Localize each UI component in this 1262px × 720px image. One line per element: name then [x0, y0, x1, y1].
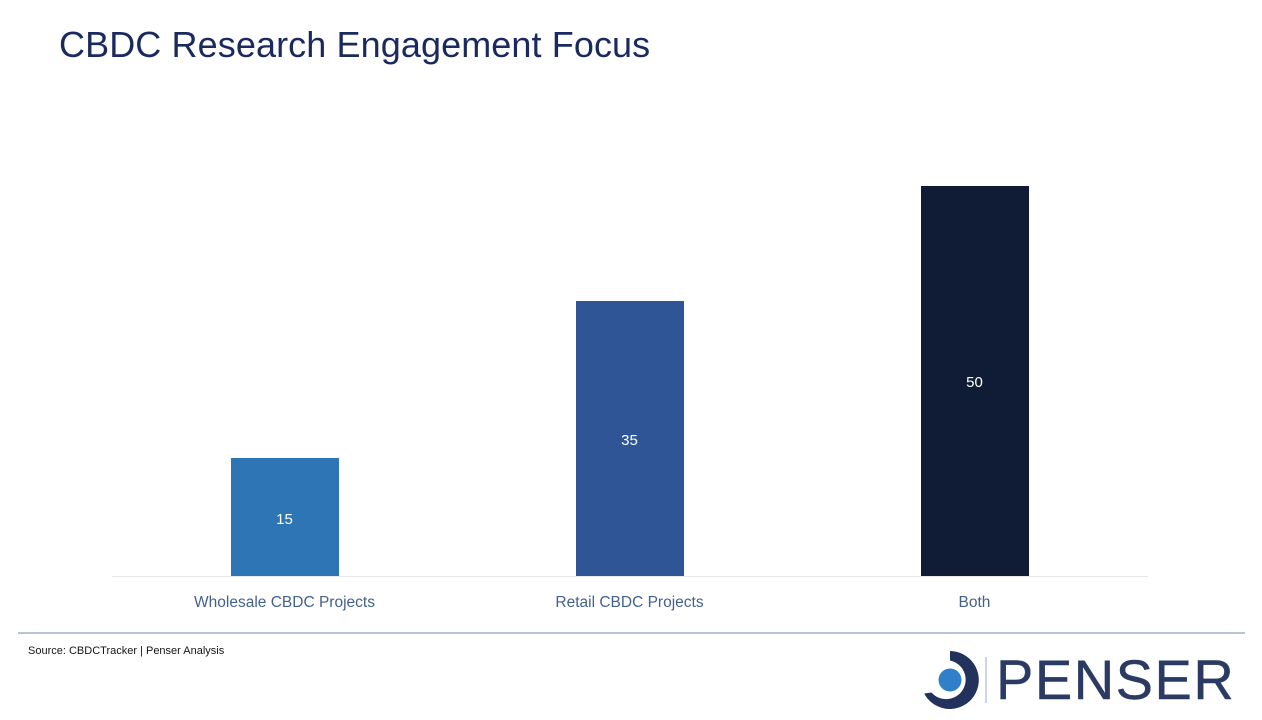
- bar-wholesale[interactable]: 15: [231, 458, 339, 576]
- bar-value-wholesale: 15: [231, 512, 339, 527]
- bar-chart: 15 35 50 Wholesale CBDC Projects Retail …: [0, 0, 1262, 626]
- penser-logo: PENSER: [918, 645, 1235, 715]
- bar-both[interactable]: 50: [921, 186, 1029, 576]
- source-note: Source: CBDCTracker | Penser Analysis: [28, 645, 224, 657]
- bar-value-retail: 35: [576, 433, 684, 448]
- bar-retail[interactable]: 35: [576, 301, 684, 576]
- category-label-both: Both: [802, 594, 1147, 612]
- slide-canvas: CBDC Research Engagement Focus 15 35 50 …: [0, 0, 1262, 720]
- category-label-wholesale: Wholesale CBDC Projects: [112, 594, 457, 612]
- bar-slot-wholesale: 15: [112, 120, 457, 576]
- bar-slot-both: 50: [802, 120, 1147, 576]
- footer-divider: [18, 632, 1245, 634]
- category-axis-line: [112, 576, 1148, 577]
- plot-area: 15 35 50: [112, 120, 1148, 576]
- penser-circle-p-mark: [918, 648, 982, 712]
- bar-slot-retail: 35: [457, 120, 802, 576]
- logo-divider: [985, 657, 987, 703]
- penser-wordmark: PENSER: [996, 652, 1235, 708]
- category-label-retail: Retail CBDC Projects: [457, 594, 802, 612]
- bar-value-both: 50: [921, 375, 1029, 390]
